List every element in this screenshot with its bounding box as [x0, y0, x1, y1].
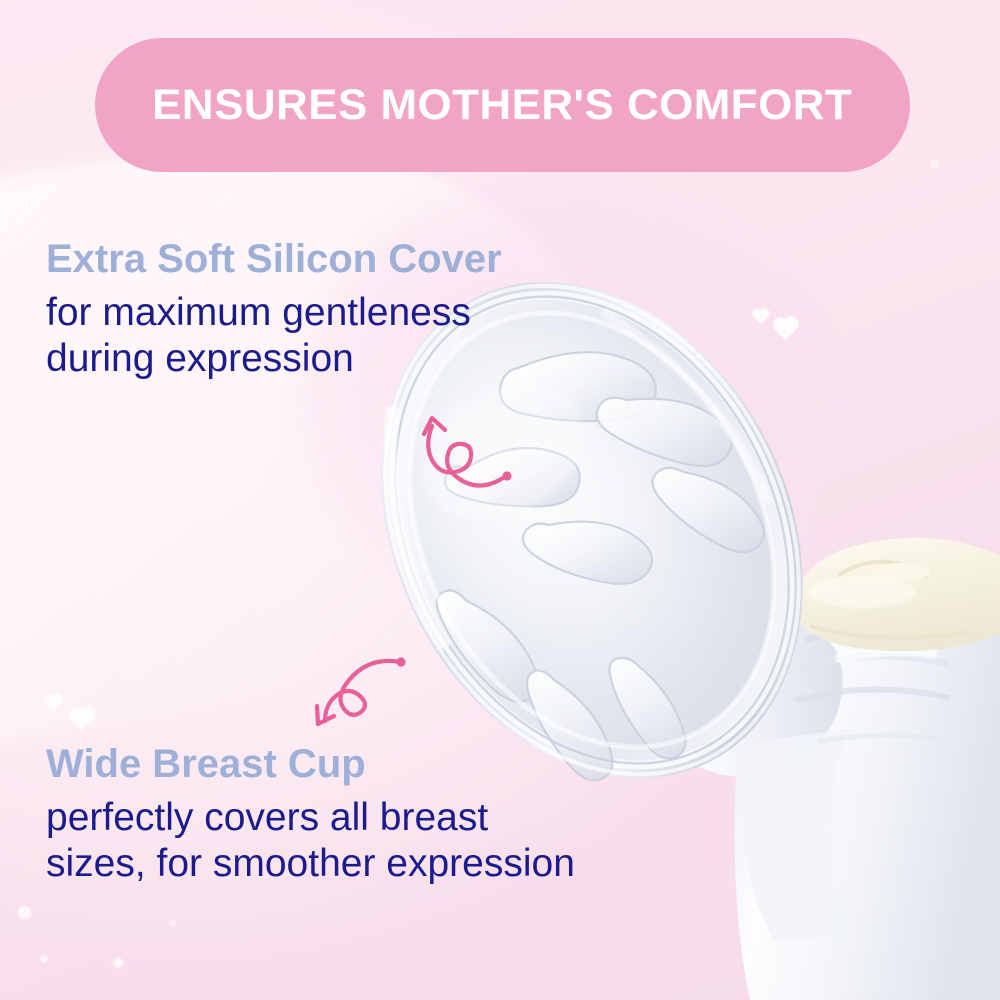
feature-block-wide-breast-cup: Wide Breast Cup perfectly covers all bre…: [46, 743, 575, 886]
feature-title: Extra Soft Silicon Cover: [46, 238, 502, 281]
collection-bottle: [858, 700, 1000, 1000]
promo-image-canvas: ENSURES MOTHER'S COMFORT Extra Soft Sili…: [0, 0, 1000, 1000]
heart-icon: [754, 310, 768, 324]
bokeh-dot-icon: [113, 958, 123, 968]
header-banner-text: ENSURES MOTHER'S COMFORT: [152, 81, 852, 130]
header-banner: ENSURES MOTHER'S COMFORT: [95, 38, 910, 172]
background-swoosh: [0, 98, 635, 761]
pump-body-connector: [662, 585, 1000, 1000]
bokeh-dot-icon: [170, 920, 176, 926]
curly-arrow-down-left-icon: [312, 648, 432, 738]
diaphragm-cap: [792, 538, 1000, 651]
heart-icon: [71, 709, 92, 730]
feature-title: Wide Breast Cup: [46, 743, 575, 786]
heart-icon: [775, 319, 796, 340]
feature-block-silicon-cover: Extra Soft Silicon Cover for maximum gen…: [46, 238, 502, 381]
curly-arrow-up-left-icon: [408, 412, 528, 502]
bokeh-dot-icon: [18, 906, 31, 919]
bokeh-dot-icon: [40, 955, 48, 963]
heart-icon: [46, 696, 62, 712]
bokeh-dot-icon: [930, 160, 939, 169]
feature-body: perfectly covers all breast sizes, for s…: [46, 795, 575, 886]
feature-body: for maximum gentleness during expression: [46, 290, 502, 381]
